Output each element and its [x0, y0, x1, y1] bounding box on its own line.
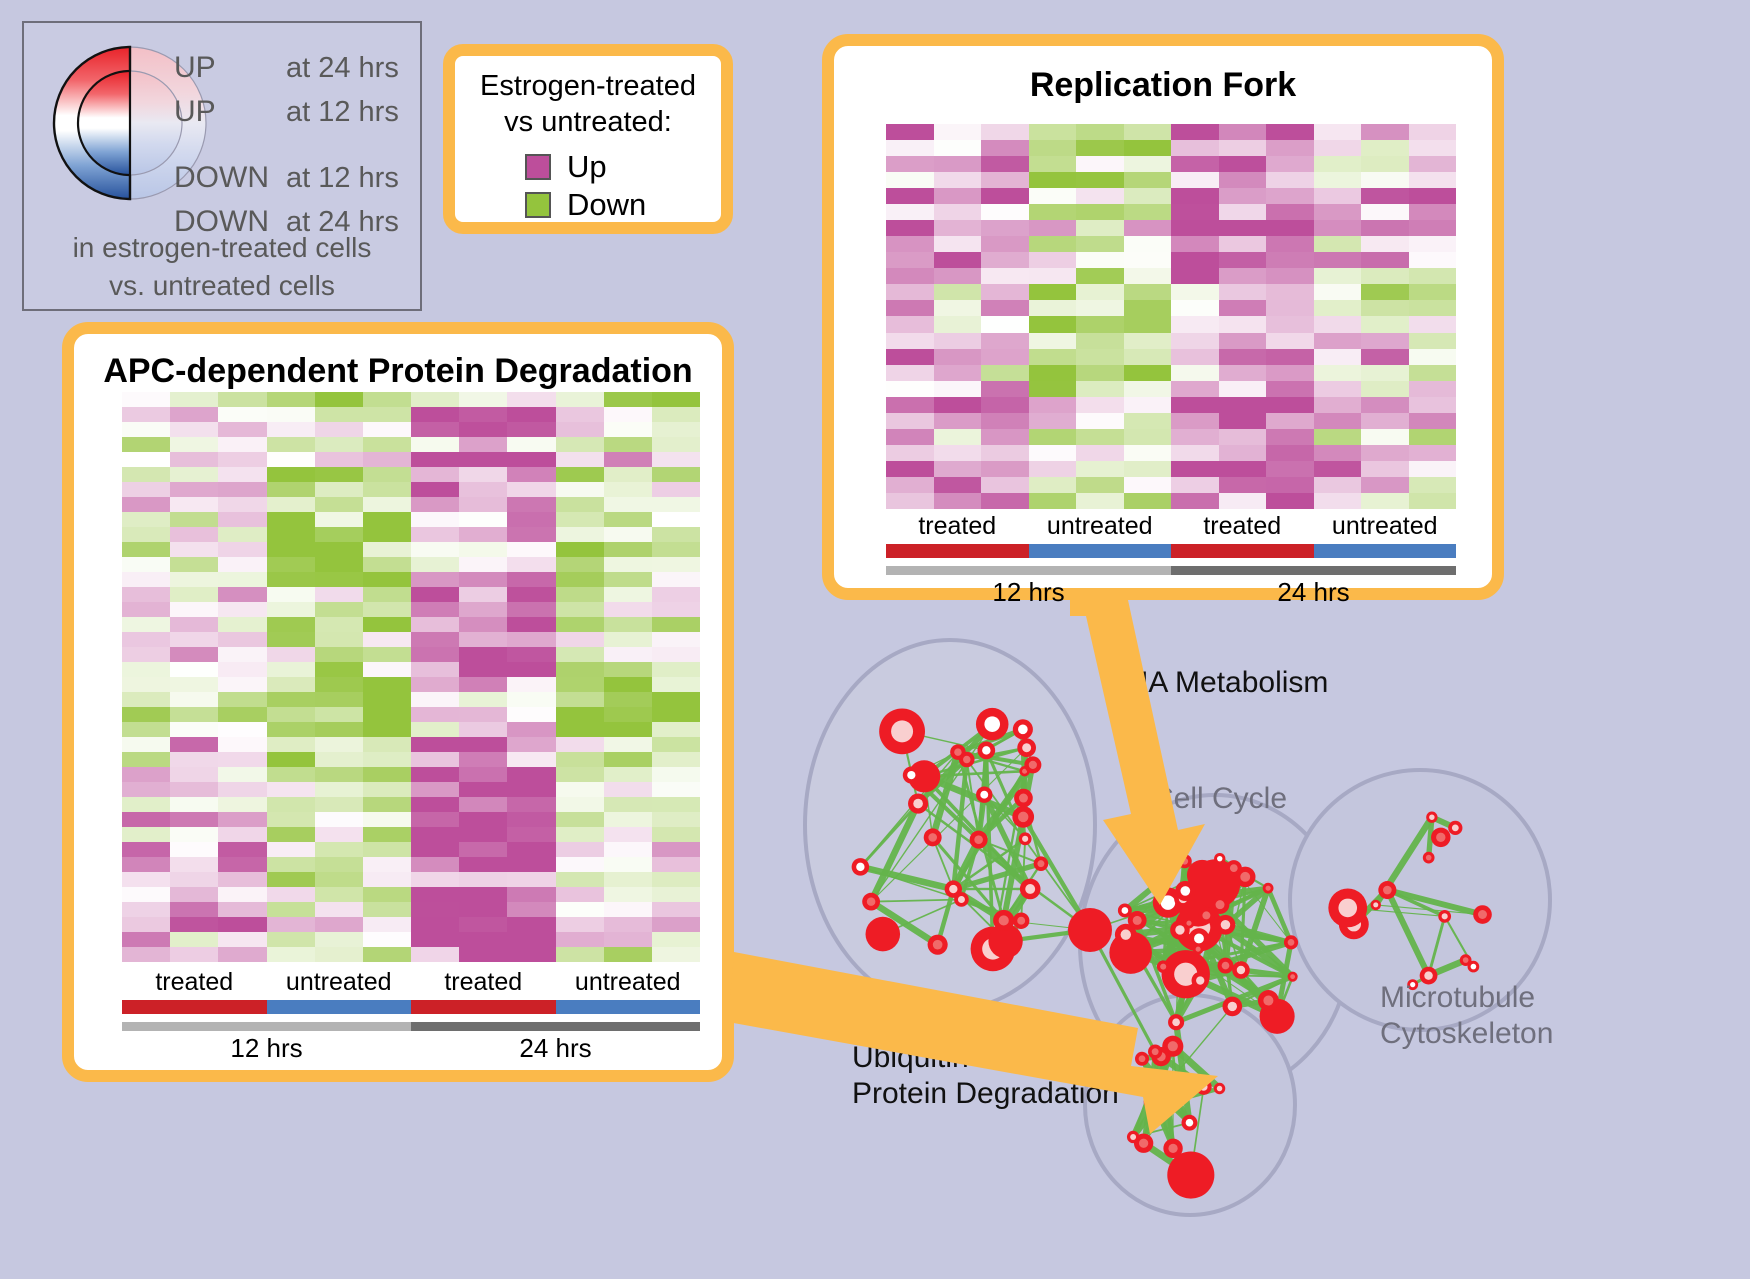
arrow-replication-fork-to-dna-metabolism	[1070, 600, 1205, 905]
arrow-apc-to-ubiquitin-degradation	[728, 952, 1218, 1134]
connector-arrows	[0, 0, 1750, 1279]
figure-canvas: UP at 24 hrs UP at 12 hrs DOWN at 12 hrs…	[0, 0, 1750, 1279]
